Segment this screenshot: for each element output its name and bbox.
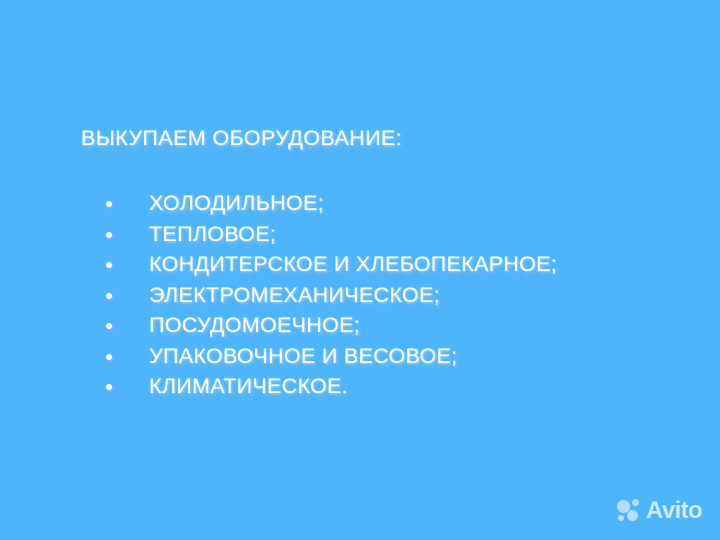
list-item: ТЕПЛОВОЕ; bbox=[106, 219, 557, 250]
bullet-point-icon bbox=[106, 293, 112, 299]
list-item-label: ЭЛЕКТРОМЕХАНИЧЕСКОЕ; bbox=[149, 283, 440, 307]
bullet-point-icon bbox=[106, 201, 112, 207]
bullet-point-icon bbox=[106, 262, 112, 268]
avito-circle-medium bbox=[627, 510, 638, 521]
avito-wordmark: Avito bbox=[646, 498, 702, 523]
list-item: ХОЛОДИЛЬНОЕ; bbox=[106, 188, 557, 219]
page-title: ВЫКУПАЕМ ОБОРУДОВАНИЕ: bbox=[81, 126, 641, 150]
list-item: КЛИМАТИЧЕСКОЕ. bbox=[106, 371, 557, 402]
list-item-label: КЛИМАТИЧЕСКОЕ. bbox=[149, 374, 348, 398]
list-item-label: ТЕПЛОВОЕ; bbox=[149, 222, 276, 246]
equipment-list: ХОЛОДИЛЬНОЕ; ТЕПЛОВОЕ; КОНДИТЕРСКОЕ И ХЛ… bbox=[106, 188, 557, 402]
bullet-point-icon bbox=[106, 354, 112, 360]
list-item-label: ХОЛОДИЛЬНОЕ; bbox=[149, 191, 324, 215]
avito-circles-icon bbox=[617, 498, 642, 523]
list-item: ЭЛЕКТРОМЕХАНИЧЕСКОЕ; bbox=[106, 280, 557, 311]
list-item: УПАКОВОЧНОЕ И ВЕСОВОЕ; bbox=[106, 341, 557, 372]
bullet-point-icon bbox=[106, 384, 112, 390]
list-item: КОНДИТЕРСКОЕ И ХЛЕБОПЕКАРНОЕ; bbox=[106, 249, 557, 280]
list-item-label: УПАКОВОЧНОЕ И ВЕСОВОЕ; bbox=[149, 344, 457, 368]
slide-canvas: ВЫКУПАЕМ ОБОРУДОВАНИЕ: ХОЛОДИЛЬНОЕ; ТЕПЛ… bbox=[0, 0, 720, 540]
bullet-point-icon bbox=[106, 232, 112, 238]
bullet-point-icon bbox=[106, 323, 112, 329]
avito-circle-tiny bbox=[618, 515, 624, 521]
list-item-label: ПОСУДОМОЕЧНОЕ; bbox=[149, 313, 360, 337]
list-item-label: КОНДИТЕРСКОЕ И ХЛЕБОПЕКАРНОЕ; bbox=[149, 252, 557, 276]
avito-watermark: Avito bbox=[617, 498, 702, 523]
avito-circle-small bbox=[632, 499, 639, 506]
content-block: ВЫКУПАЕМ ОБОРУДОВАНИЕ: ХОЛОДИЛЬНОЕ; ТЕПЛ… bbox=[81, 126, 641, 150]
list-item: ПОСУДОМОЕЧНОЕ; bbox=[106, 310, 557, 341]
